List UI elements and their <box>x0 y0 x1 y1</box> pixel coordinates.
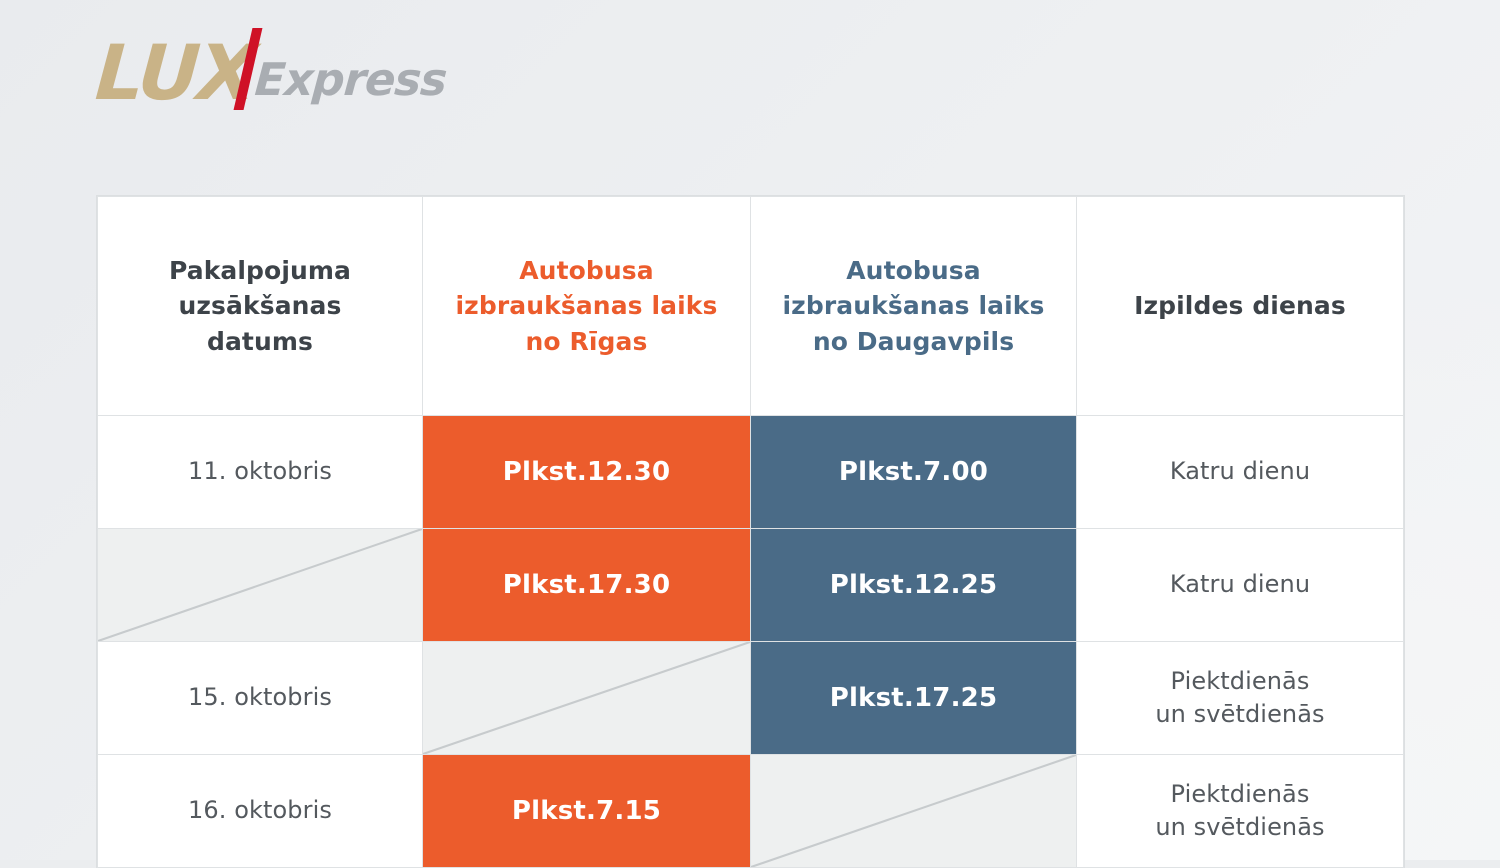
logo-lux-text: LUX <box>94 38 257 108</box>
cell-departure-riga: Plkst.17.30 <box>423 529 751 642</box>
cell-operating-days: Katru dienu <box>1077 416 1404 529</box>
header-line: izbraukšanas laiks <box>456 291 718 320</box>
table-header-row: Pakalpojuma uzsākšanas datums Autobusa i… <box>98 197 1404 416</box>
cell-date: 16. oktobris <box>98 755 423 868</box>
table-row: Plkst.17.30 Plkst.12.25 Katru dienu <box>98 529 1404 642</box>
operating-days-line: un svētdienās <box>1077 811 1403 844</box>
table-row: 15. oktobris Plkst.17.25 Piektdienās un … <box>98 642 1404 755</box>
cell-departure-daugavpils: Plkst.17.25 <box>751 642 1077 755</box>
header-line: Autobusa <box>519 256 654 285</box>
table-body: 11. oktobris Plkst.12.30 Plkst.7.00 Katr… <box>98 416 1404 868</box>
column-header-operating-days: Izpildes dienas <box>1077 197 1404 416</box>
cell-departure-riga-empty <box>423 642 751 755</box>
cell-departure-daugavpils: Plkst.7.00 <box>751 416 1077 529</box>
schedule-table: Pakalpojuma uzsākšanas datums Autobusa i… <box>97 196 1404 868</box>
diagonal-strike-icon <box>751 755 1076 867</box>
logo-express-text: Express <box>253 57 447 102</box>
header-line: no Daugavpils <box>813 327 1014 356</box>
cell-operating-days: Katru dienu <box>1077 529 1404 642</box>
cell-date-empty <box>98 529 423 642</box>
diagonal-strike-icon <box>423 642 750 754</box>
cell-departure-daugavpils: Plkst.12.25 <box>751 529 1077 642</box>
cell-operating-days: Piektdienās un svētdienās <box>1077 642 1404 755</box>
operating-days-line: Katru dienu <box>1077 568 1403 601</box>
lux-express-logo: LUX Express <box>96 22 446 108</box>
header-line: no Rīgas <box>526 327 648 356</box>
diagonal-strike-icon <box>98 529 422 641</box>
header-line: datums <box>207 327 313 356</box>
cell-departure-daugavpils-empty <box>751 755 1077 868</box>
header-line: uzsākšanas <box>178 291 341 320</box>
page-content: LUX Express Pakalpojuma uzsākšanas datum… <box>0 0 1500 860</box>
cell-departure-riga: Plkst.7.15 <box>423 755 751 868</box>
header-line: izbraukšanas laiks <box>783 291 1045 320</box>
cell-operating-days: Piektdienās un svētdienās <box>1077 755 1404 868</box>
cell-departure-riga: Plkst.12.30 <box>423 416 751 529</box>
table-header: Pakalpojuma uzsākšanas datums Autobusa i… <box>98 197 1404 416</box>
cell-date: 15. oktobris <box>98 642 423 755</box>
column-header-departure-from-riga: Autobusa izbraukšanas laiks no Rīgas <box>423 197 751 416</box>
operating-days-line: Katru dienu <box>1077 455 1403 488</box>
table-row: 16. oktobris Plkst.7.15 Piektdienās un s… <box>98 755 1404 868</box>
cell-date: 11. oktobris <box>98 416 423 529</box>
header-line: Izpildes dienas <box>1134 291 1346 320</box>
header-line: Pakalpojuma <box>169 256 351 285</box>
operating-days-line: Piektdienās <box>1077 778 1403 811</box>
column-header-service-start-date: Pakalpojuma uzsākšanas datums <box>98 197 423 416</box>
column-header-departure-from-daugavpils: Autobusa izbraukšanas laiks no Daugavpil… <box>751 197 1077 416</box>
table-row: 11. oktobris Plkst.12.30 Plkst.7.00 Katr… <box>98 416 1404 529</box>
operating-days-line: un svētdienās <box>1077 698 1403 731</box>
operating-days-line: Piektdienās <box>1077 665 1403 698</box>
header-line: Autobusa <box>846 256 981 285</box>
